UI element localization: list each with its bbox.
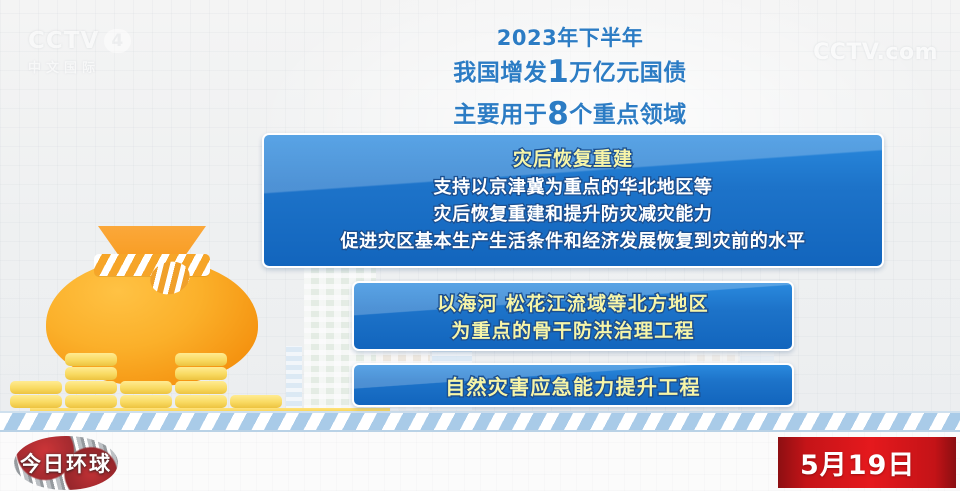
- date-badge-label: 5月19日: [800, 443, 915, 482]
- cctv4-watermark: CCTV 4 中文国际: [28, 28, 160, 82]
- panel-1-line-1: 支持以京津冀为重点的华北地区等: [434, 174, 713, 201]
- headline-line-2: 我国增发1万亿元国债: [320, 52, 820, 94]
- panel-3-line-1: 自然灾害应急能力提升工程: [445, 371, 701, 400]
- panel-1-title: 灾后恢复重建: [513, 145, 633, 174]
- channel-number-badge: 4: [104, 29, 131, 53]
- panel-2-line-2: 为重点的骨干防洪治理工程: [451, 316, 695, 343]
- channel-subtitle: 中文国际: [28, 57, 160, 76]
- cctv-logo-row: CCTV 4: [28, 28, 160, 54]
- panel-1-line-3: 促进灾区基本生产生活条件和经济发展恢复到灾前的水平: [341, 228, 806, 255]
- program-logo: 今日环球: [4, 434, 126, 491]
- info-panel-emergency-capability: 自然灾害应急能力提升工程: [352, 363, 794, 407]
- building-far-left: [286, 346, 302, 410]
- coin-stack: [10, 381, 62, 408]
- cctv-wordmark: CCTV: [28, 28, 99, 54]
- headline-line-1: 2023年下半年: [320, 24, 820, 52]
- headline-line-2-prefix: 我国增发: [453, 60, 547, 86]
- headline-line-3: 主要用于8个重点领域: [320, 94, 820, 136]
- headline-block: 2023年下半年 我国增发1万亿元国债 主要用于8个重点领域: [320, 24, 820, 135]
- coin-stack: [120, 381, 172, 408]
- info-panel-disaster-recovery: 灾后恢复重建 支持以京津冀为重点的华北地区等 灾后恢复重建和提升防灾减灾能力 促…: [262, 133, 884, 268]
- info-panel-flood-control: 以海河 松花江流域等北方地区 为重点的骨干防洪治理工程: [352, 281, 794, 351]
- headline-line-2-number: 1: [547, 54, 569, 90]
- headline-line-3-prefix: 主要用于: [453, 102, 547, 128]
- cctv-dotcom-watermark: CCTV.com: [813, 40, 938, 65]
- headline-line-2-suffix: 万亿元国债: [569, 60, 687, 86]
- headline-line-3-number: 8: [547, 96, 569, 132]
- broadcast-screen: 2023年下半年 我国增发1万亿元国债 主要用于8个重点领域 灾后恢复重建 支持…: [0, 0, 960, 491]
- program-name-label: 今日环球: [10, 448, 122, 478]
- coin-stack: [65, 353, 117, 408]
- panel-2-line-1: 以海河 松花江流域等北方地区: [437, 289, 709, 316]
- coin-stack: [230, 395, 282, 408]
- headline-line-3-suffix: 个重点领域: [569, 102, 687, 128]
- panel-1-line-2: 灾后恢复重建和提升防灾减灾能力: [434, 201, 713, 228]
- date-badge: 5月19日: [778, 437, 956, 488]
- coin-stack: [175, 353, 227, 408]
- striped-ground-band: [0, 411, 960, 432]
- coin-stacks: [10, 353, 282, 408]
- money-bag-illustration: [38, 218, 268, 408]
